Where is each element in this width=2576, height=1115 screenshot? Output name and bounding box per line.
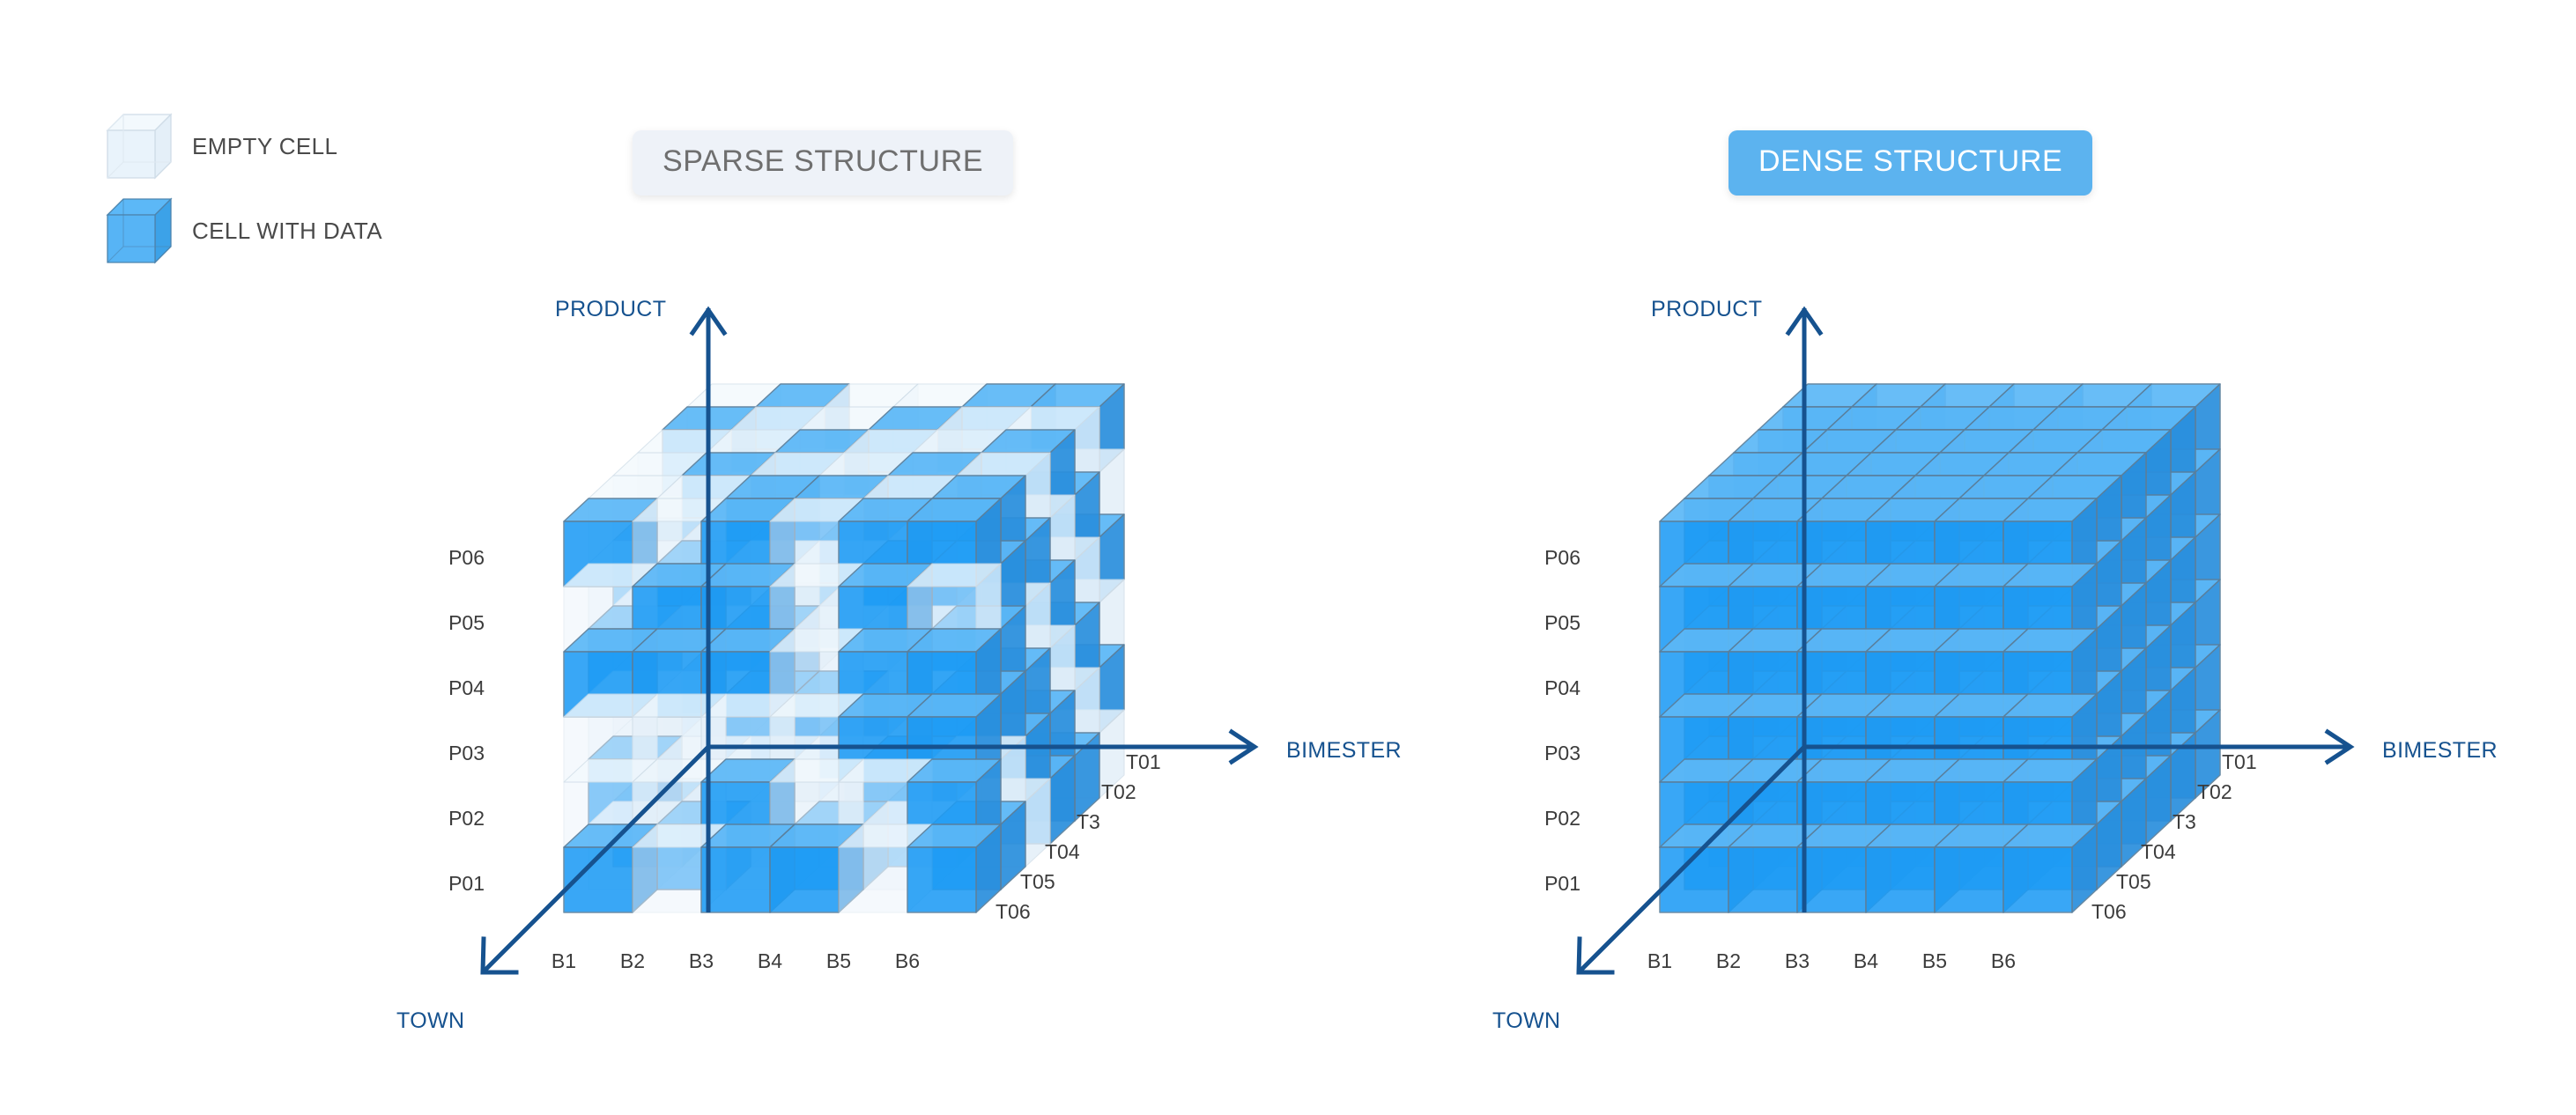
cube-cell <box>1921 449 2014 537</box>
cube-cell <box>1660 498 1753 587</box>
cube-cell <box>1935 564 2028 652</box>
cube-cell <box>751 713 844 801</box>
cube-cell <box>701 564 795 652</box>
cube-cell <box>1734 430 1827 518</box>
cube-cell <box>2033 472 2127 560</box>
cube-cell <box>1852 710 1945 798</box>
cube-cell <box>962 580 1055 668</box>
cube-cell <box>869 407 962 495</box>
tick-town-t05-sparse: T05 <box>1020 870 1055 894</box>
cube-cell <box>657 736 751 824</box>
tick-town-t05-dense: T05 <box>2116 870 2151 894</box>
cube-cell <box>1852 384 1945 472</box>
tick-town-t01-dense: T01 <box>2222 750 2257 774</box>
cube-cell <box>825 514 918 602</box>
tick-product-p03-sparse: P03 <box>423 742 485 765</box>
cube-cell <box>775 495 869 583</box>
cube-cell <box>2033 668 2127 756</box>
cube-cell <box>682 453 775 541</box>
cube-cell <box>726 606 819 694</box>
cube-cell <box>893 384 987 472</box>
cube-cell <box>564 564 657 652</box>
cube-cell <box>1778 518 1871 606</box>
cube-cell <box>869 733 962 821</box>
cube-cell <box>1758 537 1852 625</box>
cube-cell <box>2127 384 2220 472</box>
cube-cell <box>588 476 682 564</box>
cube-cell <box>863 541 957 629</box>
cube-cell <box>588 736 682 824</box>
tick-product-p05-sparse: P05 <box>423 611 485 635</box>
cube-cell <box>657 671 751 759</box>
cube-cell <box>2009 430 2102 518</box>
cube-cell <box>775 690 869 779</box>
cube-cell <box>1734 495 1827 583</box>
cube-cell <box>2053 648 2146 736</box>
cube-cell <box>913 756 1006 844</box>
cube-cell <box>1871 756 1965 844</box>
cube-cell <box>2053 779 2146 867</box>
cube-cell <box>2058 449 2151 537</box>
cube-cell <box>2028 476 2121 564</box>
cube-cell <box>1753 736 1847 824</box>
cube-cell <box>800 733 893 821</box>
cube-cell <box>564 498 657 587</box>
cube-3d-sparse <box>0 0 1288 1115</box>
cube-cell <box>687 710 781 798</box>
cube-cell <box>932 671 1025 759</box>
cube-cell <box>663 407 756 495</box>
tick-product-p02-sparse: P02 <box>423 807 485 831</box>
cube-cell <box>1728 629 1822 717</box>
cube-cell <box>638 495 731 583</box>
cube-cell <box>1797 759 1891 847</box>
cube-cell <box>863 606 957 694</box>
cube-cell <box>731 602 825 690</box>
cube-cell <box>731 537 825 625</box>
cube-cell <box>1871 560 1965 648</box>
cube-cell <box>1783 514 1876 602</box>
cube-cell <box>1965 668 2058 756</box>
cube-cell <box>1783 580 1876 668</box>
cube-cell <box>1660 759 1753 847</box>
cube-cell <box>1989 580 2083 668</box>
tick-product-p04-dense: P04 <box>1519 676 1580 700</box>
tick-product-p05-dense: P05 <box>1519 611 1580 635</box>
cube-cell <box>1959 736 2053 824</box>
tick-product-p01-dense: P01 <box>1519 872 1580 896</box>
cube-cell <box>2102 537 2195 625</box>
cube-cell <box>2003 824 2097 912</box>
cube-cell <box>564 759 657 847</box>
cube-cell <box>687 514 781 602</box>
cube-cell <box>981 756 1075 844</box>
cube-cell <box>707 625 800 713</box>
cube-cell <box>2028 541 2121 629</box>
cube-cell <box>775 625 869 713</box>
cube-cell <box>913 625 1006 713</box>
cube-cell <box>1896 602 1989 690</box>
cube-cell <box>663 733 756 821</box>
cube-cell <box>957 648 1050 736</box>
cube-cell <box>1965 733 2058 821</box>
cube-cell <box>1989 384 2083 472</box>
cube-cell <box>1802 430 1896 518</box>
cube-cell <box>1753 606 1847 694</box>
cube-cell <box>1940 756 2033 844</box>
cube-cell <box>2053 453 2146 541</box>
cube-cell <box>1915 713 2009 801</box>
axis-label-bimester-dense: BIMESTER <box>2382 738 2498 764</box>
cube-cell <box>907 498 1001 587</box>
cube-cell <box>888 648 981 736</box>
cube-cell <box>1709 648 1802 736</box>
cube-cell <box>1891 476 1984 564</box>
cube-cell <box>1891 671 1984 759</box>
cube-cell <box>844 625 937 713</box>
cube-cell <box>1753 541 1847 629</box>
cube-cell <box>1006 407 1099 495</box>
cube-cell <box>957 583 1050 671</box>
cube-cell <box>731 407 825 495</box>
cube-cell <box>844 495 937 583</box>
cube-cell <box>1758 733 1852 821</box>
cube-cell <box>2058 580 2151 668</box>
tick-bimester-b5-dense: B5 <box>1904 949 1965 973</box>
cube-cell <box>1734 625 1827 713</box>
cube-cell <box>1915 518 2009 606</box>
cube-cell <box>2033 602 2127 690</box>
cube-cell <box>888 779 981 867</box>
cube-cell <box>1866 498 1959 587</box>
cube-cell <box>869 537 962 625</box>
cube-cell <box>663 602 756 690</box>
tick-town-t02-dense: T02 <box>2197 780 2232 804</box>
panel-dense: PRODUCT BIMESTER TOWN P06 P05 P04 P03 P0… <box>1096 0 2384 1115</box>
cube-cell <box>1940 560 2033 648</box>
cube-cell <box>1709 779 1802 867</box>
cube-cell <box>1847 453 1940 541</box>
cube-cell <box>1959 606 2053 694</box>
cube-cell <box>1802 625 1896 713</box>
cube-cell <box>1871 495 1965 583</box>
cube-cell <box>2028 801 2121 890</box>
cube-cell <box>2009 690 2102 779</box>
cube-cell <box>1822 476 1915 564</box>
cube-cell <box>687 449 781 537</box>
cube-cell <box>770 824 863 912</box>
cube-cell <box>707 430 800 518</box>
cube-cell <box>2102 407 2195 495</box>
cube-cell <box>1822 541 1915 629</box>
cube-cell <box>613 583 707 671</box>
cube-cell <box>2009 756 2102 844</box>
cube-cell <box>962 710 1055 798</box>
cube-cell <box>1783 384 1876 472</box>
cube-cell <box>825 710 918 798</box>
cube-cell <box>1891 541 1984 629</box>
cube-cell <box>2058 710 2151 798</box>
cube-cell <box>726 541 819 629</box>
cube-cell <box>1896 537 1989 625</box>
cube-cell <box>1802 495 1896 583</box>
cube-cell <box>1822 736 1915 824</box>
cube-cell <box>564 824 657 912</box>
cube-cell <box>1827 668 1921 756</box>
axis-lines-dense <box>1096 0 2384 1115</box>
cube-cell <box>932 541 1025 629</box>
cube-cell <box>1728 824 1822 912</box>
cube-cell <box>839 564 932 652</box>
cube-cell <box>913 495 1006 583</box>
cube-cell <box>2102 472 2195 560</box>
tick-product-p02-dense: P02 <box>1519 807 1580 831</box>
tick-bimester-b6-dense: B6 <box>1973 949 2034 973</box>
cube-cell <box>795 606 888 694</box>
cube-cell <box>1684 801 1778 890</box>
cube-cell <box>1660 629 1753 717</box>
cube-cell <box>937 537 1031 625</box>
cube-cell <box>707 690 800 779</box>
cube-cell <box>613 648 707 736</box>
cube-cell <box>844 690 937 779</box>
cube-cell <box>1822 606 1915 694</box>
cube-cell <box>1709 583 1802 671</box>
cube-cell <box>633 498 726 587</box>
cube-cell <box>1915 779 2009 867</box>
cube-cell <box>682 648 775 736</box>
cube-cell <box>937 733 1031 821</box>
cube-cell <box>1847 518 1940 606</box>
axis-label-town-sparse: TOWN <box>396 1008 465 1034</box>
cube-cell <box>863 736 957 824</box>
cube-cell <box>1753 671 1847 759</box>
cube-cell <box>981 495 1075 583</box>
cube-3d-dense <box>1096 0 2384 1115</box>
cube-cell <box>1959 476 2053 564</box>
cube-cell <box>1684 606 1778 694</box>
cube-cell <box>638 560 731 648</box>
cube-cell <box>1915 453 2009 541</box>
cube-cell <box>2028 736 2121 824</box>
tick-bimester-b3-sparse: B3 <box>670 949 732 973</box>
cube-cell <box>1935 694 2028 782</box>
cube-cell <box>770 498 863 587</box>
tick-bimester-b2-dense: B2 <box>1698 949 1759 973</box>
cube-cell <box>957 779 1050 867</box>
cube-cell <box>1797 498 1891 587</box>
cube-cell <box>1959 801 2053 890</box>
cube-cell <box>1709 713 1802 801</box>
cube-cell <box>1959 541 2053 629</box>
cube-cell <box>1728 694 1822 782</box>
cube-cell <box>1871 430 1965 518</box>
cube-cell <box>638 625 731 713</box>
cube-cell <box>1989 514 2083 602</box>
cube-cell <box>770 629 863 717</box>
cube-cell <box>1006 668 1099 756</box>
cube-cell <box>1758 472 1852 560</box>
cube-cell <box>1891 606 1984 694</box>
cube-cell <box>893 580 987 668</box>
cube-cell <box>2009 625 2102 713</box>
cube-cell <box>588 671 682 759</box>
cube-cell <box>825 449 918 537</box>
cube-cell <box>701 498 795 587</box>
cube-cell <box>1896 472 1989 560</box>
cube-cell <box>1915 648 2009 736</box>
cube-cell <box>825 384 918 472</box>
cube-cell <box>1866 824 1959 912</box>
cube-cell <box>1989 449 2083 537</box>
cube-cell <box>863 671 957 759</box>
cube-cell <box>2003 759 2097 847</box>
cube-cell <box>981 430 1075 518</box>
cube-cell <box>1006 733 1099 821</box>
tick-bimester-b4-sparse: B4 <box>739 949 801 973</box>
cube-cell <box>1797 629 1891 717</box>
cube-cell <box>726 476 819 564</box>
cube-cell <box>907 629 1001 717</box>
cube-cell <box>1684 541 1778 629</box>
cube-cell <box>1753 801 1847 890</box>
cube-cell <box>1940 495 2033 583</box>
cube-cell <box>2127 449 2220 537</box>
panel-sparse: PRODUCT BIMESTER TOWN P06 P05 P04 P03 P0… <box>0 0 1288 1115</box>
cube-cell <box>1684 736 1778 824</box>
cube-cell <box>932 801 1025 890</box>
cube-cell <box>795 476 888 564</box>
cube-cell <box>707 495 800 583</box>
cube-cell <box>1852 645 1945 733</box>
cube-cell <box>863 476 957 564</box>
cube-cell <box>819 648 913 736</box>
cube-cell <box>1778 583 1871 671</box>
cube-cell <box>726 736 819 824</box>
cube-cell <box>1965 602 2058 690</box>
cube-cell <box>756 514 849 602</box>
cube-cell <box>2077 495 2171 583</box>
cube-cell <box>819 779 913 867</box>
cube-cell <box>1734 560 1827 648</box>
cube-cell <box>2102 602 2195 690</box>
cube-cell <box>825 580 918 668</box>
cube-cell <box>1959 671 2053 759</box>
cube-cell <box>613 518 707 606</box>
cube-cell <box>1802 560 1896 648</box>
cube-cell <box>1965 537 2058 625</box>
tick-town-t04-dense: T04 <box>2141 840 2176 864</box>
cube-cell <box>795 736 888 824</box>
cube-cell <box>962 384 1055 472</box>
cube-cell <box>1660 564 1753 652</box>
cube-cell <box>1852 580 1945 668</box>
cube-cell <box>756 710 849 798</box>
cube-cell <box>1827 537 1921 625</box>
cube-cell <box>1006 537 1099 625</box>
cube-cell <box>726 801 819 890</box>
cube-cell <box>1984 779 2077 867</box>
cube-cell <box>1921 514 2014 602</box>
cube-cell <box>1935 759 2028 847</box>
cube-cell <box>2028 606 2121 694</box>
cube-cell <box>633 564 726 652</box>
cube-cell <box>1921 645 2014 733</box>
cube-cell <box>981 690 1075 779</box>
cube-cell <box>701 629 795 717</box>
tick-town-t06-dense: T06 <box>2091 900 2127 924</box>
cube-cell <box>613 713 707 801</box>
cube-cell <box>1984 453 2077 541</box>
cube-cell <box>1921 580 2014 668</box>
cube-cell <box>2077 560 2171 648</box>
cube-cell <box>1891 801 1984 890</box>
cube-cell <box>638 756 731 844</box>
cube-cell <box>1984 713 2077 801</box>
cube-cell <box>1728 564 1822 652</box>
cube-cell <box>844 560 937 648</box>
cube-cell <box>819 713 913 801</box>
cube-cell <box>2003 694 2097 782</box>
tick-product-p04-sparse: P04 <box>423 676 485 700</box>
cube-cell <box>682 583 775 671</box>
cube-cell <box>1871 625 1965 713</box>
cube-cell <box>1891 736 1984 824</box>
cube-cell <box>800 602 893 690</box>
cube-cell <box>770 759 863 847</box>
cube-cell <box>2009 495 2102 583</box>
cube-cell <box>800 668 893 756</box>
tick-product-p06-dense: P06 <box>1519 546 1580 570</box>
cube-cell <box>756 384 849 472</box>
cube-cell <box>2033 537 2127 625</box>
cube-cell <box>913 430 1006 518</box>
cube-cell <box>2127 580 2220 668</box>
cube-cell <box>839 824 932 912</box>
cube-cell <box>1852 514 1945 602</box>
cube-cell <box>893 449 987 537</box>
tick-bimester-b1-sparse: B1 <box>533 949 595 973</box>
cube-cell <box>2009 560 2102 648</box>
cube-cell <box>1660 694 1753 782</box>
cube-cell <box>701 694 795 782</box>
cube-cell <box>657 476 751 564</box>
cube-cell <box>937 407 1031 495</box>
cube-cell <box>633 824 726 912</box>
cube-cell <box>1827 472 1921 560</box>
cube-cell <box>893 514 987 602</box>
cube-cell <box>756 580 849 668</box>
cube-cell <box>775 430 869 518</box>
cube-cell <box>795 541 888 629</box>
cube-cell <box>1684 671 1778 759</box>
cube-cell <box>1984 648 2077 736</box>
cube-cell <box>1728 759 1822 847</box>
axis-label-product-dense: PRODUCT <box>1651 297 1762 322</box>
cube-cell <box>888 518 981 606</box>
cube-cell <box>613 779 707 867</box>
cube-cell <box>1940 625 2033 713</box>
cube-cell <box>1827 733 1921 821</box>
cube-cell <box>1006 602 1099 690</box>
cube-cell <box>638 690 731 779</box>
tick-product-p03-dense: P03 <box>1519 742 1580 765</box>
cube-cell <box>937 472 1031 560</box>
cube-cell <box>888 583 981 671</box>
cube-cell <box>2033 407 2127 495</box>
cube-cell <box>2058 645 2151 733</box>
cube-cell <box>2053 518 2146 606</box>
